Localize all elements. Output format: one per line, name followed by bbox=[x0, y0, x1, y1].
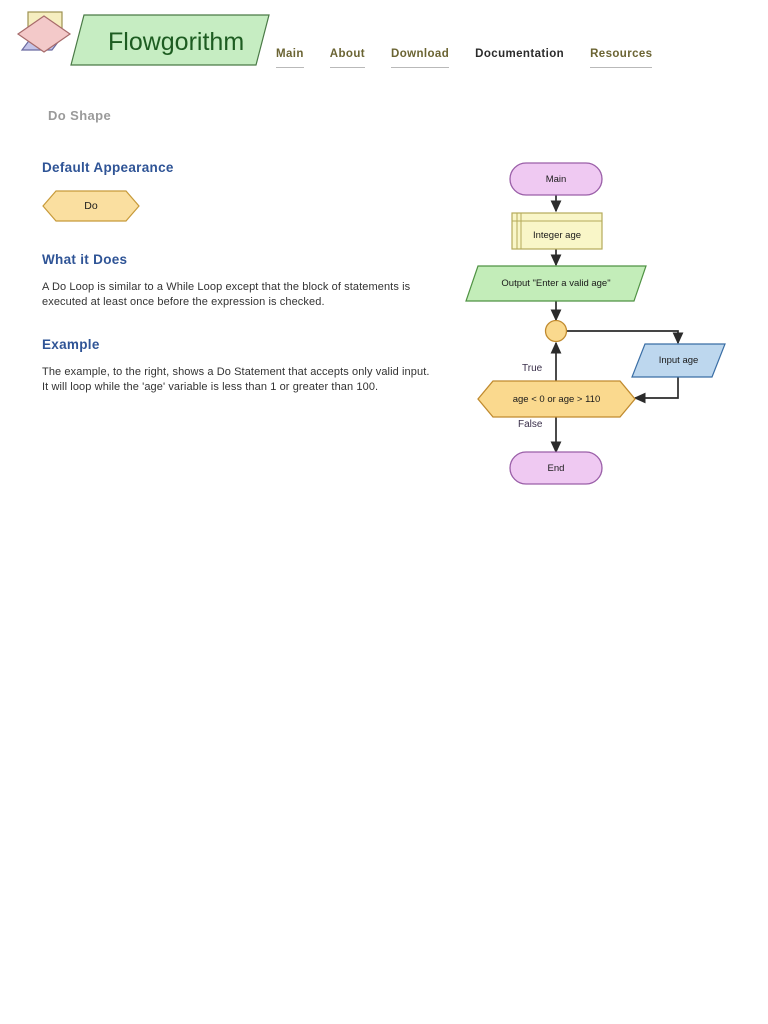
heading-what-it-does: What it Does bbox=[42, 252, 442, 267]
arrow-connector-to-input bbox=[566, 331, 678, 343]
nav-item-download[interactable]: Download bbox=[391, 48, 449, 68]
nav-item-resources[interactable]: Resources bbox=[590, 48, 652, 68]
arrow-input-to-condition bbox=[635, 377, 678, 398]
node-loop-connector-dot[interactable] bbox=[546, 321, 567, 342]
node-declare-shape[interactable] bbox=[512, 213, 602, 249]
logo-stacked-shapes bbox=[14, 8, 76, 70]
nav-item-about[interactable]: About bbox=[330, 48, 365, 68]
node-output-shape[interactable] bbox=[466, 266, 646, 301]
branch-label-false: False bbox=[518, 419, 542, 430]
main-navigation: Main About Download Documentation Resour… bbox=[276, 48, 652, 74]
paragraph-what-it-does: A Do Loop is similar to a While Loop exc… bbox=[42, 280, 437, 310]
nav-item-main[interactable]: Main bbox=[276, 48, 304, 68]
page-title: Do Shape bbox=[48, 108, 111, 123]
site-header: Flowgorithm Main About Download Document… bbox=[0, 0, 768, 88]
heading-example: Example bbox=[42, 337, 442, 352]
heading-default-appearance: Default Appearance bbox=[42, 160, 442, 175]
node-main-shape[interactable] bbox=[510, 163, 602, 195]
branch-label-true: True bbox=[522, 363, 542, 374]
paragraph-example: The example, to the right, shows a Do St… bbox=[42, 365, 437, 395]
logo-text: Flowgorithm bbox=[108, 28, 244, 57]
node-condition-shape[interactable] bbox=[478, 381, 635, 417]
example-flowchart-diagram: Main Integer age Output "Enter a valid a… bbox=[450, 155, 750, 500]
site-logo[interactable]: Flowgorithm bbox=[14, 8, 264, 70]
do-shape-sample: Do bbox=[42, 190, 140, 222]
node-input-shape[interactable] bbox=[632, 344, 725, 377]
node-end-shape[interactable] bbox=[510, 452, 602, 484]
nav-item-documentation[interactable]: Documentation bbox=[475, 48, 564, 68]
article-content: Default Appearance Do What it Does A Do … bbox=[42, 160, 442, 395]
do-shape-sample-label: Do bbox=[42, 190, 140, 222]
flowchart-svg bbox=[450, 155, 750, 500]
